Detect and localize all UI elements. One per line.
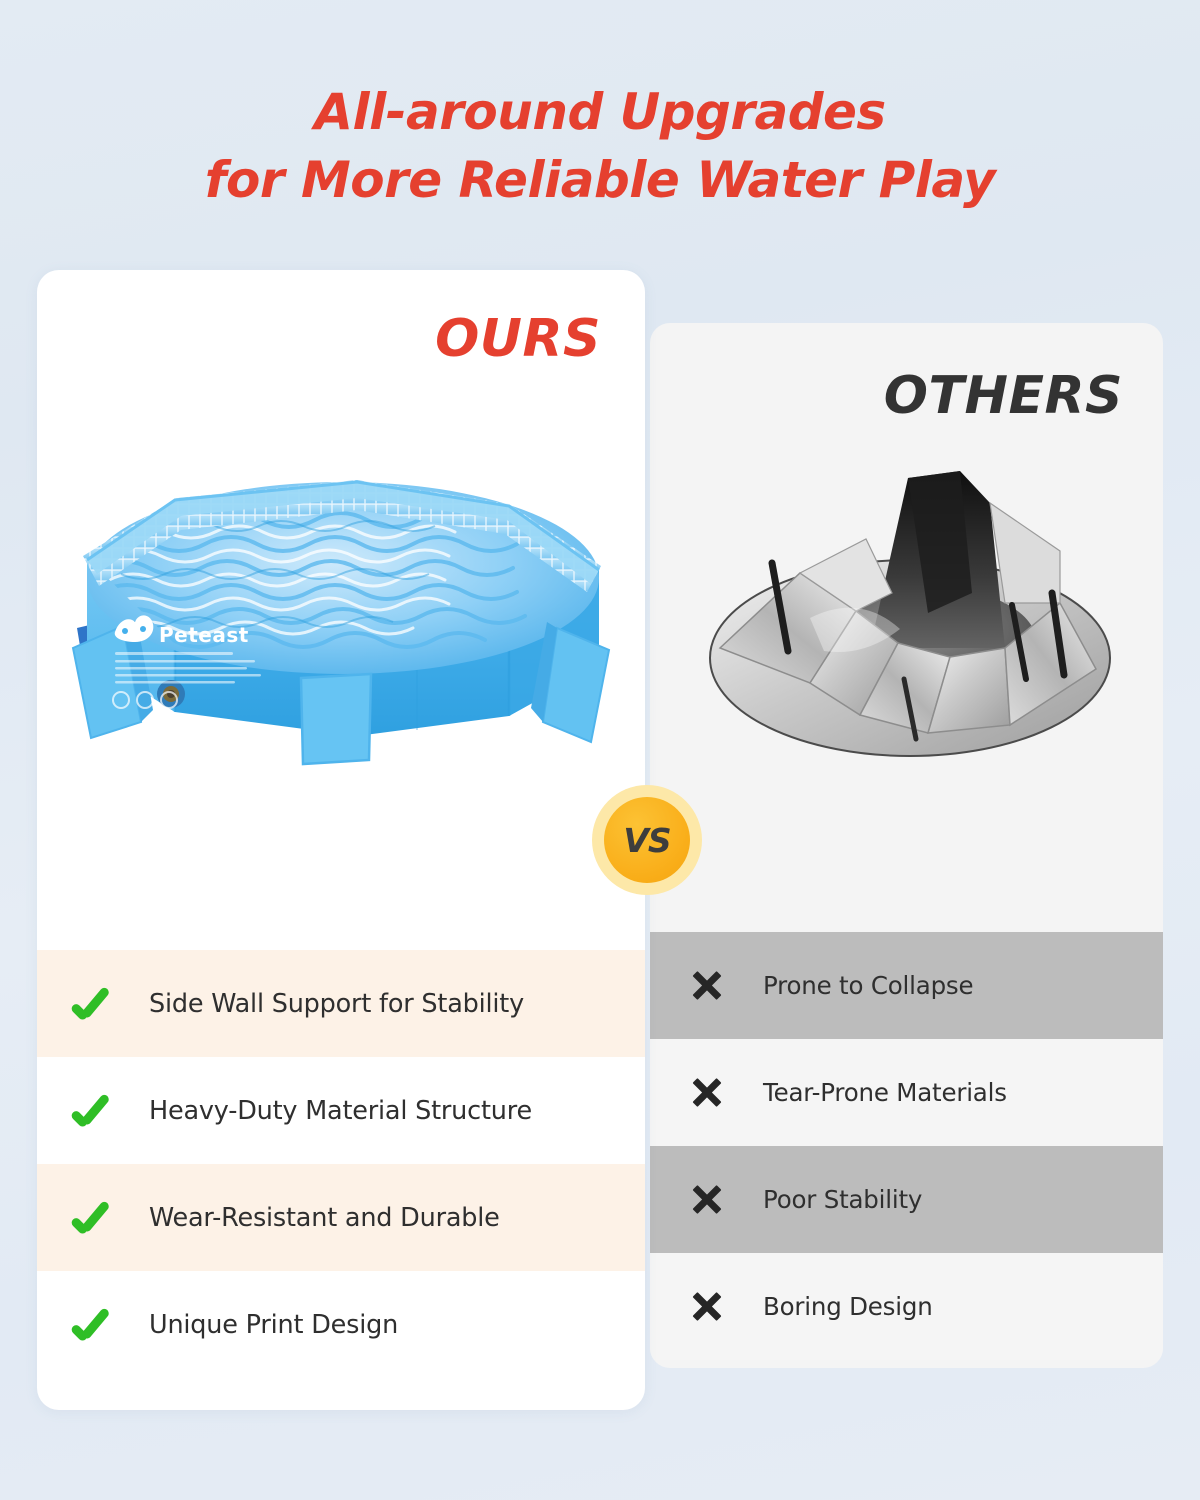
ours-heading: OURS — [435, 313, 601, 365]
list-item: Heavy-Duty Material Structure — [37, 1057, 645, 1164]
check-icon — [37, 1088, 149, 1134]
list-item: Poor Stability — [650, 1146, 1163, 1253]
list-item-label: Prone to Collapse — [763, 971, 973, 1000]
list-item-label: Boring Design — [763, 1292, 933, 1321]
list-item-label: Poor Stability — [763, 1185, 922, 1214]
vs-badge-label: VS — [623, 821, 670, 860]
list-item-label: Wear-Resistant and Durable — [149, 1203, 500, 1233]
page-title-line-2: for More Reliable Water Play — [0, 146, 1200, 214]
ours-product-image: Peteast — [57, 460, 627, 800]
cross-icon — [650, 1183, 763, 1217]
others-product-image — [660, 443, 1160, 773]
others-heading: OTHERS — [884, 370, 1123, 422]
others-comparison-card: OTHERS — [650, 323, 1163, 1368]
check-icon — [37, 1302, 149, 1348]
list-item: Tear-Prone Materials — [650, 1039, 1163, 1146]
list-item: Unique Print Design — [37, 1271, 645, 1378]
ours-feature-list: Side Wall Support for Stability Heavy-Du… — [37, 950, 645, 1378]
list-item: Prone to Collapse — [650, 932, 1163, 1039]
list-item: Wear-Resistant and Durable — [37, 1164, 645, 1271]
list-item-label: Tear-Prone Materials — [763, 1078, 1007, 1107]
list-item-label: Side Wall Support for Stability — [149, 989, 524, 1019]
page-title: All-around Upgrades for More Reliable Wa… — [0, 78, 1200, 214]
cross-icon — [650, 1290, 763, 1324]
vs-badge-inner: VS — [604, 797, 690, 883]
cross-icon — [650, 1076, 763, 1110]
list-item: Side Wall Support for Stability — [37, 950, 645, 1057]
check-icon — [37, 981, 149, 1027]
list-item-label: Heavy-Duty Material Structure — [149, 1096, 532, 1126]
svg-text:Peteast: Peteast — [159, 623, 249, 647]
ours-comparison-card: OURS — [37, 270, 645, 1410]
others-feature-list: Prone to Collapse Tear-Prone Materials P… — [650, 932, 1163, 1360]
list-item: Boring Design — [650, 1253, 1163, 1360]
vs-badge: VS — [592, 785, 702, 895]
check-icon — [37, 1195, 149, 1241]
cross-icon — [650, 969, 763, 1003]
page-title-line-1: All-around Upgrades — [0, 78, 1200, 146]
list-item-label: Unique Print Design — [149, 1310, 398, 1340]
